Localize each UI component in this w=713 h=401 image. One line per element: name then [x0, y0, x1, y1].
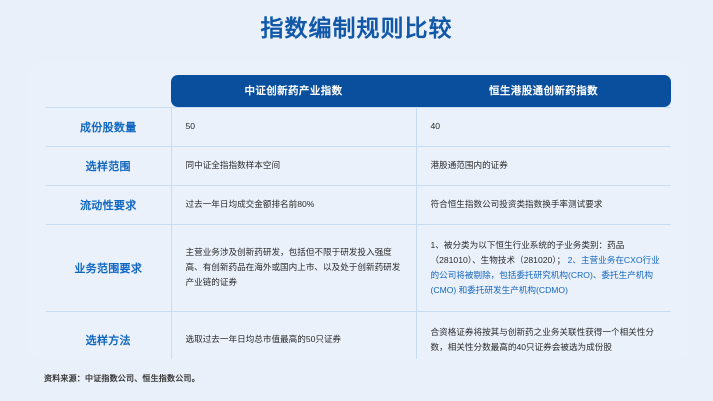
row-value-b-shares-count: 40	[416, 107, 671, 146]
table-header-col-b: 恒生港股通创新药指数	[416, 75, 671, 107]
page-title: 指数编制规则比较	[0, 13, 713, 43]
row-value-b-sample-scope: 港股通范围内的证券	[416, 146, 671, 185]
row-label-shares-count: 成份股数量	[46, 107, 171, 146]
row-value-a-liquidity: 过去一年日均成交金额排名前80%	[171, 185, 416, 224]
row-label-liquidity: 流动性要求	[46, 185, 171, 224]
table-header-corner	[46, 75, 171, 107]
row-label-business-scope: 业务范围要求	[46, 224, 171, 311]
row-value-a-shares-count: 50	[171, 107, 416, 146]
table-row: 业务范围要求 主营业务涉及创新药研发，包括但不限于研发投入强度高、有创新药品在海…	[46, 224, 671, 311]
table-row: 成份股数量 50 40	[46, 107, 671, 146]
row-label-selection-method: 选样方法	[46, 311, 171, 359]
table-header-row: 中证创新药产业指数 恒生港股通创新药指数	[46, 75, 671, 107]
row-value-b-business-scope: 1、被分类为以下恒生行业系统的子业务类别：药品（281010）、生物技术（281…	[416, 224, 671, 311]
row-label-sample-scope: 选样范围	[46, 146, 171, 185]
row-value-b-selection-method: 合资格证券将按其与创新药之业务关联性获得一个相关性分数，相关性分数最高的40只证…	[416, 311, 671, 359]
row-value-a-sample-scope: 同中证全指指数样本空间	[171, 146, 416, 185]
row-value-a-business-scope: 主营业务涉及创新药研发，包括但不限于研发投入强度高、有创新药品在海外或国内上市、…	[171, 224, 416, 311]
row-value-b-liquidity: 符合恒生指数公司投资类指数换手率测试要求	[416, 185, 671, 224]
comparison-card: 中证创新药产业指数 恒生港股通创新药指数 成份股数量 50 40 选样范围 同中…	[29, 62, 688, 359]
table-row: 选样范围 同中证全指指数样本空间 港股通范围内的证券	[46, 146, 671, 185]
slide-root: 指数编制规则比较 中证创新药产业指数 恒生港股通创新药指数 成份股数量 50 4…	[0, 0, 713, 401]
table-row: 选样方法 选取过去一年日均总市值最高的50只证券 合资格证券将按其与创新药之业务…	[46, 311, 671, 359]
table-row: 流动性要求 过去一年日均成交金额排名前80% 符合恒生指数公司投资类指数换手率测…	[46, 185, 671, 224]
source-note: 资料来源：中证指数公司、恒生指数公司。	[44, 373, 200, 384]
table-header-col-a: 中证创新药产业指数	[171, 75, 416, 107]
comparison-table: 中证创新药产业指数 恒生港股通创新药指数 成份股数量 50 40 选样范围 同中…	[46, 75, 671, 359]
row-value-a-selection-method: 选取过去一年日均总市值最高的50只证券	[171, 311, 416, 359]
